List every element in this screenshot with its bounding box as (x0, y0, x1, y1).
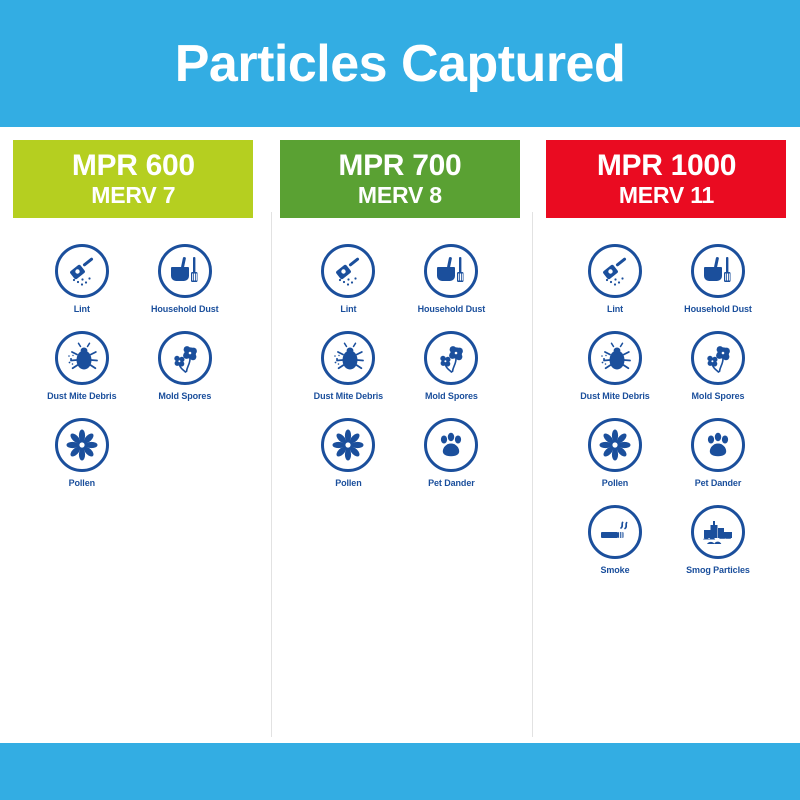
particle-label: Mold Spores (158, 392, 211, 402)
particle-item: Pollen (305, 418, 392, 489)
particle-icon-grid-3: Lint Household Dust (571, 244, 761, 592)
dustpan-brush-icon (691, 244, 745, 298)
page-title: Particles Captured (175, 38, 626, 90)
mpr-rating-label: MPR 700 (338, 150, 461, 182)
column-header-2: MPR 700MERV 8 (280, 140, 520, 218)
particle-label: Pet Dander (695, 479, 742, 489)
particle-item: Lint (571, 244, 658, 315)
filter-column-3: MPR 1000MERV 11 Lint Househo (533, 127, 800, 743)
particle-item: Mold Spores (141, 331, 228, 402)
particle-item: Smog Particles (674, 505, 761, 576)
pollen-flower-icon (321, 418, 375, 472)
lint-roller-icon (55, 244, 109, 298)
particle-label: Lint (74, 305, 90, 315)
particle-item: Mold Spores (674, 331, 761, 402)
dustpan-brush-icon (158, 244, 212, 298)
mpr-rating-label: MPR 600 (72, 150, 195, 182)
particle-item: Household Dust (674, 244, 761, 315)
particle-item: Mold Spores (408, 331, 495, 402)
particle-item: Pet Dander (674, 418, 761, 489)
particle-label: Smog Particles (686, 566, 750, 576)
dust-mite-icon (55, 331, 109, 385)
comparison-columns-area: MPR 600MERV 7 Lint Household (0, 127, 800, 743)
particle-label: Household Dust (418, 305, 486, 315)
particle-label: Household Dust (151, 305, 219, 315)
particle-icon-grid-1: Lint Household Dust (38, 244, 228, 505)
merv-rating-label: MERV 11 (619, 182, 714, 208)
particle-item: Household Dust (408, 244, 495, 315)
particle-label: Dust Mite Debris (580, 392, 649, 402)
pollen-flower-icon (55, 418, 109, 472)
dust-mite-icon (321, 331, 375, 385)
particle-label: Lint (607, 305, 623, 315)
particle-label: Pollen (69, 479, 95, 489)
lint-roller-icon (588, 244, 642, 298)
particle-item: Dust Mite Debris (571, 331, 658, 402)
paw-print-icon (691, 418, 745, 472)
mold-spores-icon (424, 331, 478, 385)
lint-roller-icon (321, 244, 375, 298)
column-header-3: MPR 1000MERV 11 (546, 140, 786, 218)
filter-column-2: MPR 700MERV 8 Lint Household (267, 127, 534, 743)
particle-item: Pollen (571, 418, 658, 489)
particle-label: Household Dust (684, 305, 752, 315)
page-header-banner: Particles Captured (0, 0, 800, 127)
mold-spores-icon (158, 331, 212, 385)
particle-item: Pollen (38, 418, 125, 489)
dust-mite-icon (588, 331, 642, 385)
paw-print-icon (424, 418, 478, 472)
particle-label: Lint (340, 305, 356, 315)
particle-item: Dust Mite Debris (305, 331, 392, 402)
column-header-1: MPR 600MERV 7 (13, 140, 253, 218)
particle-label: Mold Spores (425, 392, 478, 402)
filter-column-1: MPR 600MERV 7 Lint Household (0, 127, 267, 743)
columns-container: MPR 600MERV 7 Lint Household (0, 127, 800, 743)
particle-item: Lint (305, 244, 392, 315)
merv-rating-label: MERV 7 (91, 182, 175, 208)
particle-item: Smoke (571, 505, 658, 576)
dustpan-brush-icon (424, 244, 478, 298)
particle-label: Pollen (602, 479, 628, 489)
page-footer-bar (0, 743, 800, 800)
mpr-rating-label: MPR 1000 (597, 150, 736, 182)
particle-label: Smoke (600, 566, 629, 576)
particle-label: Dust Mite Debris (47, 392, 116, 402)
particle-item: Dust Mite Debris (38, 331, 125, 402)
particle-item: Lint (38, 244, 125, 315)
particle-label: Pet Dander (428, 479, 475, 489)
pollen-flower-icon (588, 418, 642, 472)
particle-item: Pet Dander (408, 418, 495, 489)
smog-city-icon (691, 505, 745, 559)
particles-captured-infographic: Particles Captured MPR 600MERV 7 Lint (0, 0, 800, 800)
particle-item: Household Dust (141, 244, 228, 315)
particle-icon-grid-2: Lint Household Dust (305, 244, 495, 505)
particle-label: Dust Mite Debris (314, 392, 383, 402)
cigarette-smoke-icon (588, 505, 642, 559)
particle-label: Pollen (335, 479, 361, 489)
merv-rating-label: MERV 8 (358, 182, 442, 208)
mold-spores-icon (691, 331, 745, 385)
particle-label: Mold Spores (692, 392, 745, 402)
